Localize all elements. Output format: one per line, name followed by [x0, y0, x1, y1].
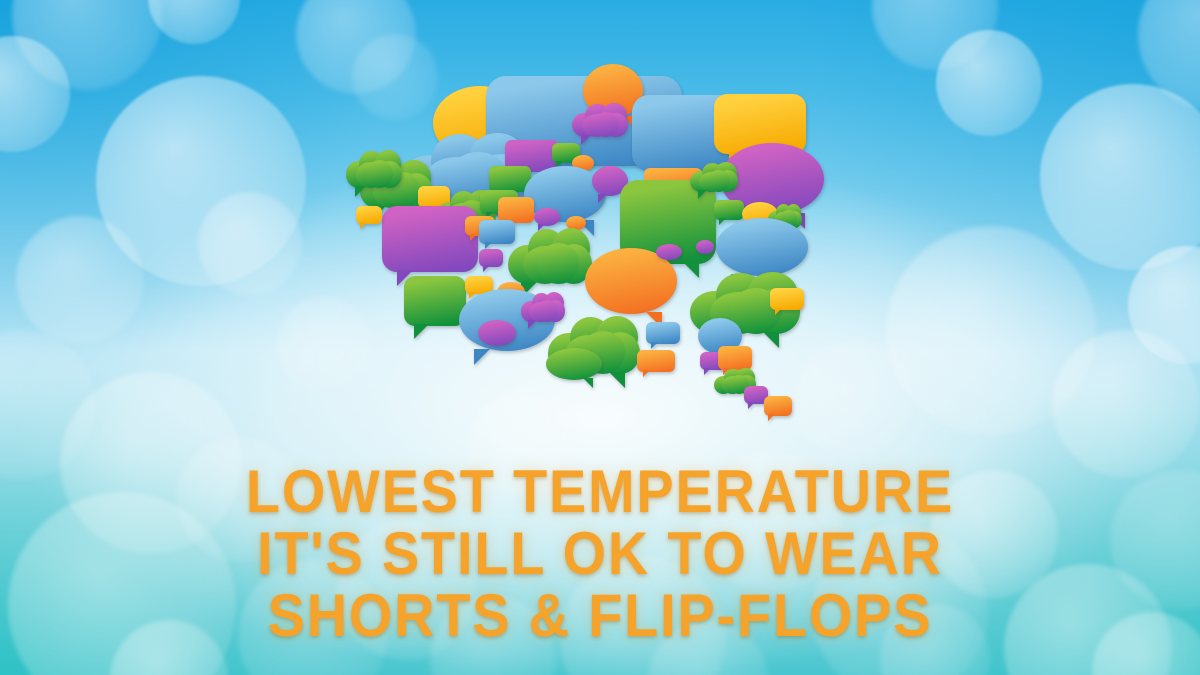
speech-bubble-oval	[534, 208, 560, 226]
headline-block: LOWEST TEMPERATURE IT'S STILL OK TO WEAR…	[0, 461, 1200, 647]
bubble-body	[696, 240, 714, 254]
speech-bubble-oval	[716, 218, 808, 276]
speech-bubble-oval	[478, 320, 516, 346]
bubble-body	[478, 320, 516, 346]
bubble-body	[646, 322, 680, 344]
speech-bubble-cloud	[508, 228, 592, 284]
bubble-body	[546, 348, 602, 380]
bubble-body	[764, 396, 792, 416]
headline-line-1: LOWEST TEMPERATURE	[42, 461, 1158, 523]
bubble-tail	[483, 265, 490, 272]
headline-line-3: SHORTS & FLIP-FLOPS	[42, 585, 1158, 647]
bubble-body	[716, 218, 808, 276]
bubble-body	[656, 244, 682, 260]
bubble-tail	[643, 370, 650, 377]
speech-bubble-rect	[770, 288, 804, 310]
bubble-tail	[581, 135, 591, 145]
poster-canvas: LOWEST TEMPERATURE IT'S STILL OK TO WEAR…	[0, 0, 1200, 675]
speech-bubble-cloud	[572, 103, 628, 137]
bubble-tail	[763, 332, 779, 348]
bubble-body	[404, 276, 466, 326]
speech-bubble-oval	[696, 240, 714, 254]
bubble-tail	[775, 308, 782, 315]
bubble-tail	[474, 349, 490, 365]
bubble-tail	[414, 324, 429, 339]
speech-bubble-oval	[656, 244, 682, 260]
bubble-body	[382, 206, 478, 272]
speech-bubble-cloud	[690, 162, 738, 192]
speech-bubble-rect	[404, 276, 466, 326]
bubble-tail	[528, 320, 537, 329]
bubble-tail	[748, 402, 755, 409]
cloud-lobe	[366, 160, 393, 188]
speech-bubble-rect	[382, 206, 478, 272]
cloud-lobe	[538, 243, 578, 284]
speech-bubble-rect	[764, 396, 792, 416]
bubble-tail	[360, 222, 367, 229]
speech-bubble-rect	[356, 206, 382, 224]
speech-bubble-rect	[479, 249, 503, 267]
bubble-tail	[470, 234, 477, 241]
speech-bubble-rect	[718, 346, 752, 370]
bubble-tail	[355, 186, 366, 197]
bubble-tail	[768, 414, 775, 421]
bubble-body	[718, 346, 752, 370]
speech-bubble-rect	[714, 200, 744, 220]
bubble-tail	[698, 190, 707, 199]
bubble-tail	[598, 194, 607, 203]
cloud-lobe	[592, 112, 619, 137]
speech-bubble-cloud	[346, 150, 402, 188]
headline-line-2: IT'S STILL OK TO WEAR	[42, 523, 1158, 585]
speech-bubble-oval	[546, 348, 602, 380]
speech-bubble-rect	[637, 350, 675, 372]
bubble-body	[770, 288, 804, 310]
bubble-tail	[609, 372, 625, 388]
bubble-tail	[485, 242, 492, 249]
bubble-tail	[704, 368, 711, 375]
bubble-body	[714, 200, 744, 220]
bubble-body	[637, 350, 675, 372]
bubble-tail	[651, 342, 658, 349]
bubble-tail	[583, 378, 593, 388]
speech-bubble-rect	[646, 322, 680, 344]
